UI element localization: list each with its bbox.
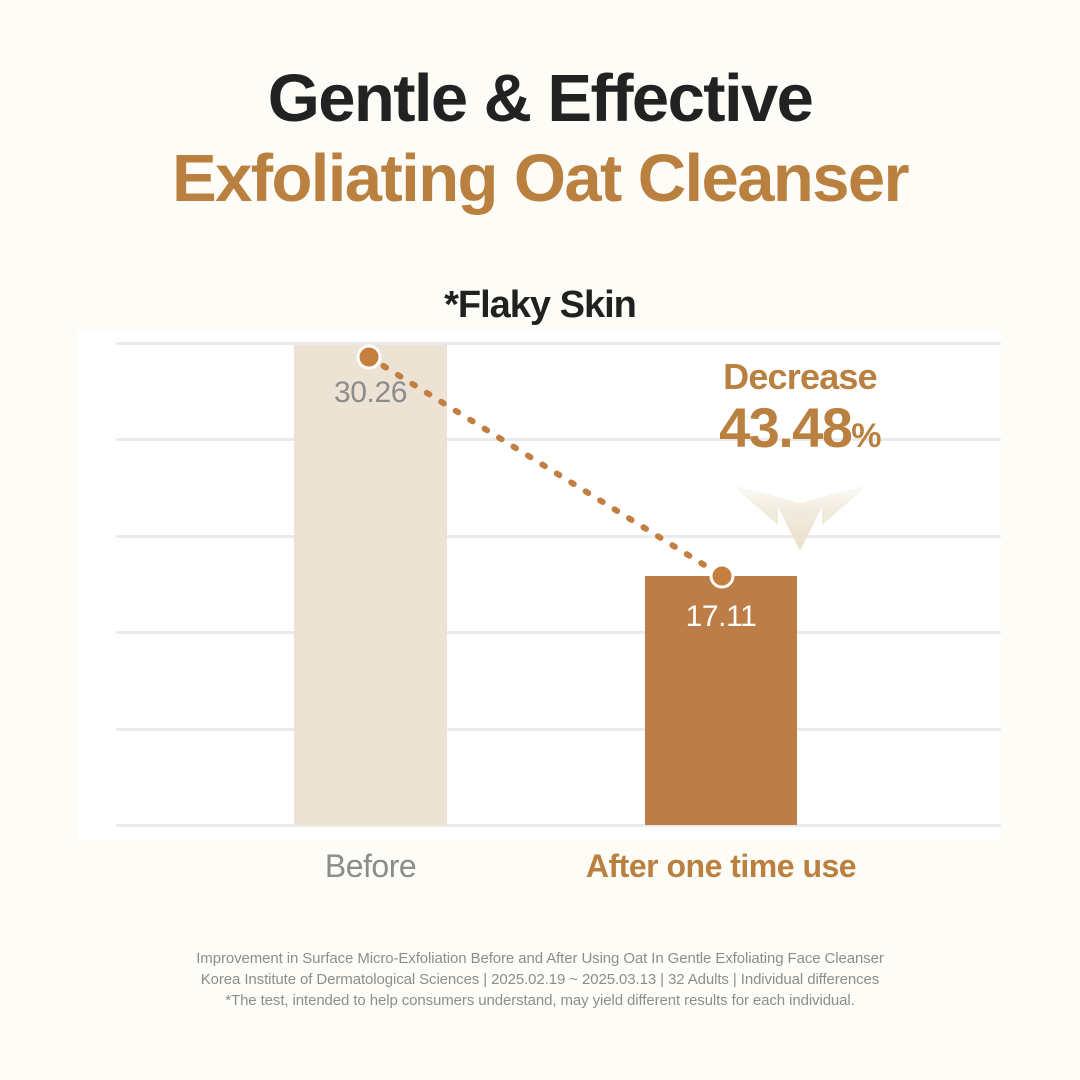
decrease-unit: % [851,417,881,455]
footnote-line-2: Korea Institute of Dermatological Scienc… [0,969,1080,990]
down-arrow-shape [732,485,868,551]
chart-title: *Flaky Skin [0,284,1080,327]
infographic-page: Gentle & Effective Exfoliating Oat Clean… [0,0,1080,1080]
bar-before[interactable]: 30.26 [294,345,447,825]
decrease-label: Decrease [645,358,955,397]
chart-panel: 30.26 17.11 Decrease 43.48% [78,330,1000,840]
bar-after-value: 17.11 [645,600,797,634]
decrease-value: 43.48 [719,396,851,459]
headline: Gentle & Effective Exfoliating Oat Clean… [0,66,1080,211]
down-arrow-icon [730,483,870,555]
axis-label-after: After one time use [565,848,877,885]
chart-axis-labels: Before After one time use [78,848,1000,894]
decrease-value-group: 43.48% [645,399,955,458]
headline-line-2: Exfoliating Oat Cleanser [0,146,1080,212]
bar-before-value: 30.26 [294,376,447,410]
axis-label-before: Before [294,848,447,885]
decrease-callout: Decrease 43.48% [645,358,955,458]
footnote-line-3: *The test, intended to help consumers un… [0,990,1080,1011]
footnote: Improvement in Surface Micro-Exfoliation… [0,948,1080,1011]
headline-line-1: Gentle & Effective [0,66,1080,132]
bar-after[interactable]: 17.11 [645,576,797,825]
footnote-line-1: Improvement in Surface Micro-Exfoliation… [0,948,1080,969]
